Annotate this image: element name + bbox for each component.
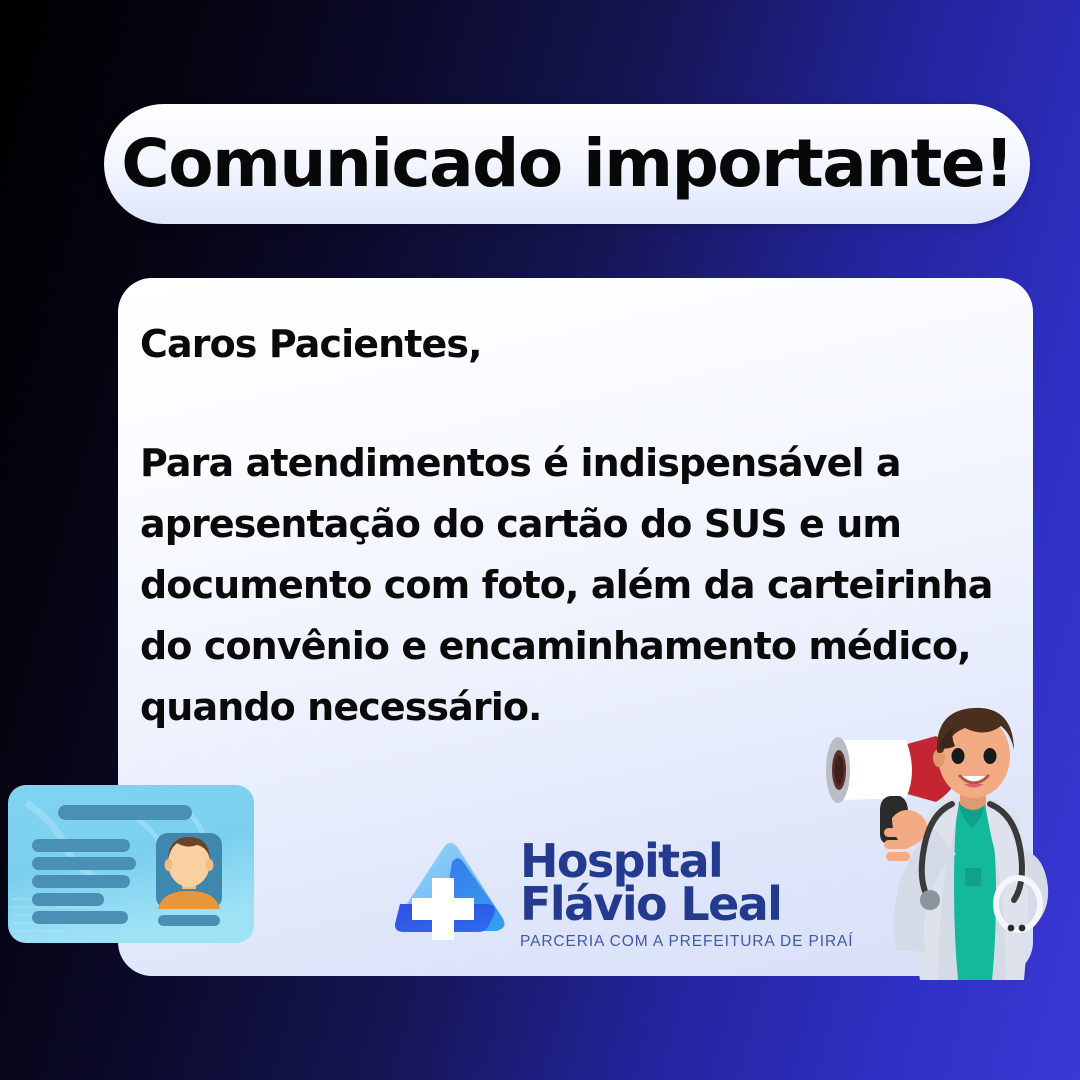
body-line-3: documento com foto, além da carteirinha xyxy=(140,555,1020,616)
id-card-icon xyxy=(6,783,256,945)
logo-wordmark: Hospital Flávio Leal PARCERIA COM A PREF… xyxy=(520,838,854,950)
doctor-illustration xyxy=(808,700,1076,982)
body-line-2: apresentação do cartão do SUS e um xyxy=(140,494,1020,555)
paragraph-spacer xyxy=(140,375,1020,433)
title-banner: Comunicado importante! xyxy=(104,104,1030,224)
logo-tagline: PARCERIA COM A PREFEITURA DE PIRAÍ xyxy=(520,934,854,950)
page-title: Comunicado importante! xyxy=(121,131,1012,197)
id-card-illustration xyxy=(6,783,256,945)
body-line-1: Para atendimentos é indispensável a xyxy=(140,433,1020,494)
body-line-4: do convênio e encaminhamento médico, xyxy=(140,616,1020,677)
salutation-text: Caros Pacientes, xyxy=(140,314,1020,375)
announcement-poster: Comunicado importante! Caros Pacientes, … xyxy=(0,0,1080,1080)
hospital-cross-triangle-icon xyxy=(390,838,508,950)
hospital-logo: Hospital Flávio Leal PARCERIA COM A PREF… xyxy=(390,838,854,950)
announcement-body: Caros Pacientes, Para atendimentos é ind… xyxy=(140,314,1020,738)
logo-name-line2: Flávio Leal xyxy=(520,881,854,927)
doctor-with-megaphone-icon xyxy=(808,700,1076,982)
